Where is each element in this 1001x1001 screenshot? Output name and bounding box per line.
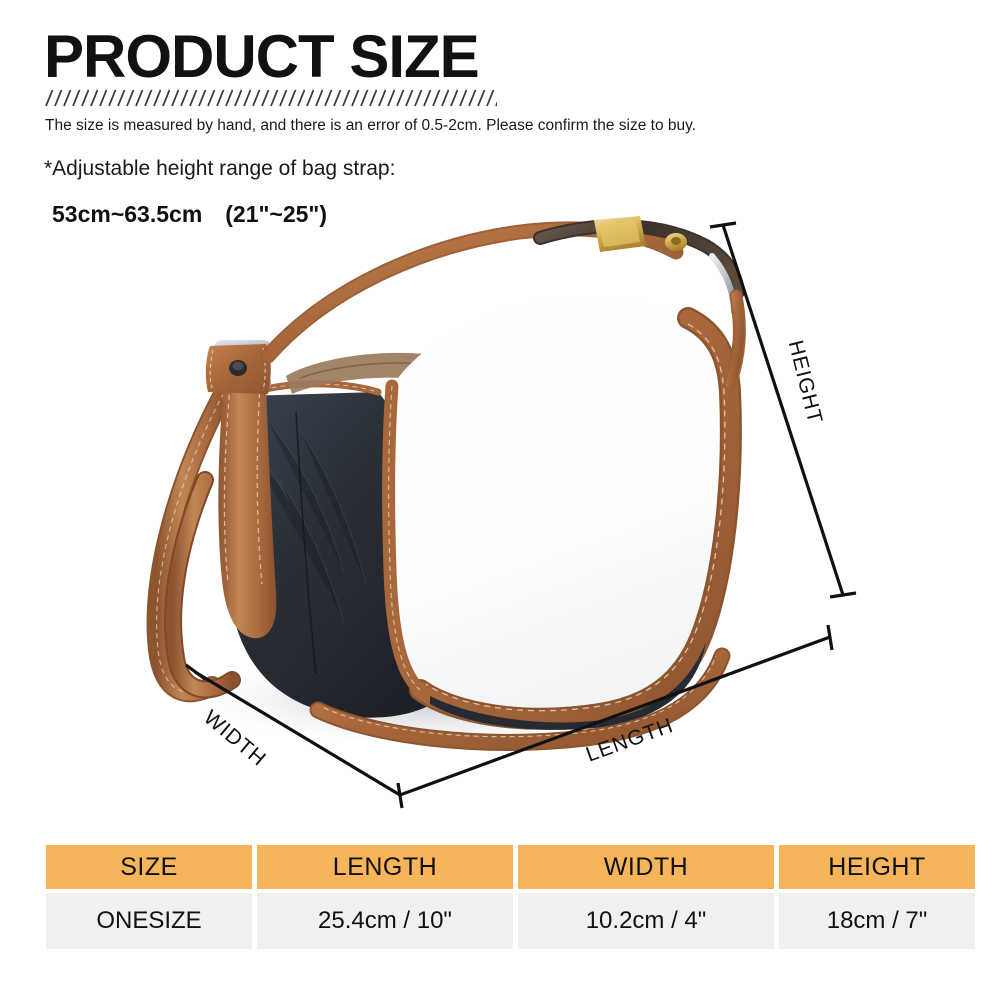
cell-height: 18cm / 7" [779,893,975,949]
table-row: ONESIZE 25.4cm / 10" 10.2cm / 4" 18cm / … [46,893,975,949]
product-photo [0,180,1001,820]
size-table: SIZE LENGTH WIDTH HEIGHT ONESIZE 25.4cm … [41,841,980,953]
product-size-infographic: PRODUCT SIZE The size is measured by han… [0,0,1001,1001]
column-header-height: HEIGHT [779,845,975,889]
diagonal-hatch-divider-icon [45,88,497,108]
column-header-width: WIDTH [518,845,774,889]
table-header-row: SIZE LENGTH WIDTH HEIGHT [46,845,975,889]
cell-size: ONESIZE [46,893,252,949]
column-header-size: SIZE [46,845,252,889]
cell-width: 10.2cm / 4" [518,893,774,949]
strap-range-note: *Adjustable height range of bag strap: [44,157,395,181]
measurement-disclaimer: The size is measured by hand, and there … [45,117,696,135]
cell-length: 25.4cm / 10" [257,893,513,949]
column-header-length: LENGTH [257,845,513,889]
page-title: PRODUCT SIZE [44,27,479,87]
